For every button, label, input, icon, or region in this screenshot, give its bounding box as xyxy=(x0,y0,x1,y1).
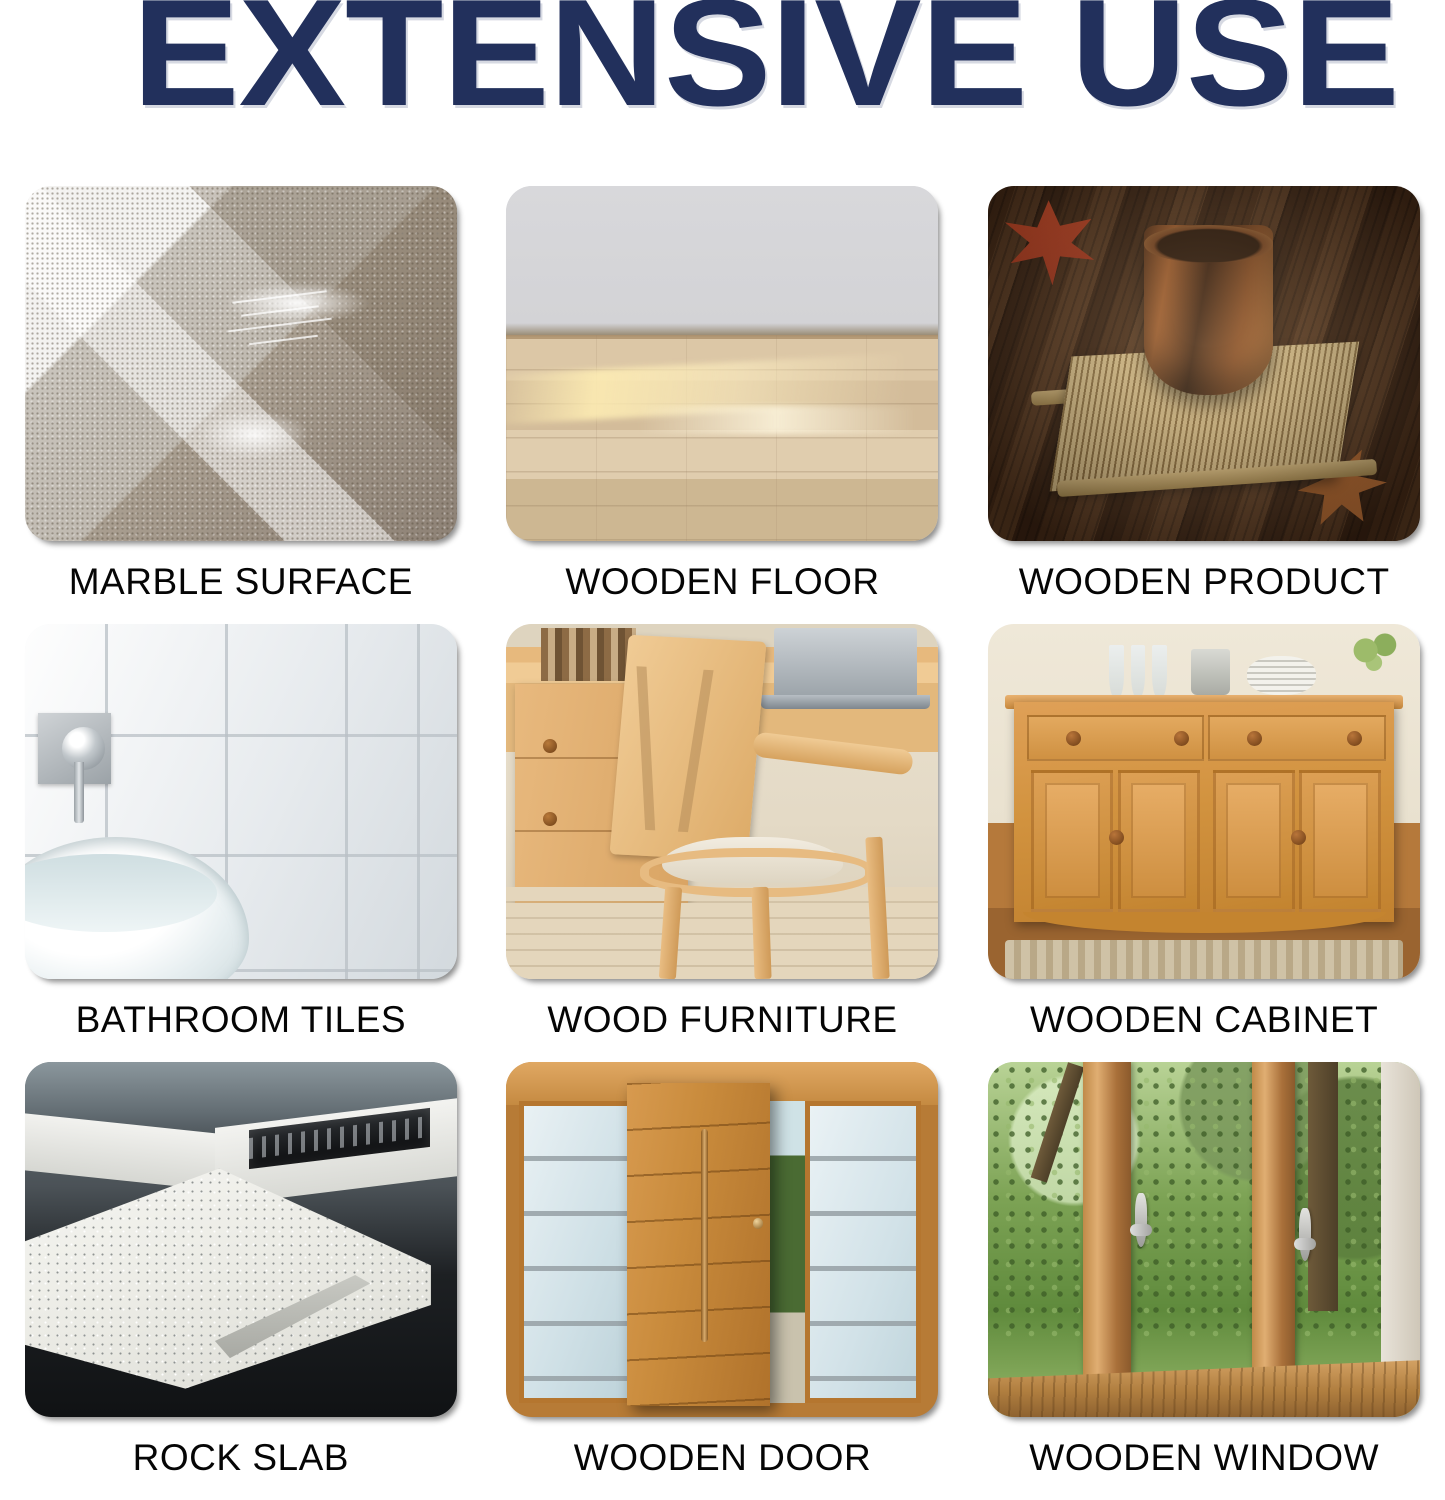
wooden-floor-image xyxy=(506,186,938,541)
use-case-wooden-door: WOODEN DOOR xyxy=(482,1062,964,1500)
floor-light-reflection-secondary xyxy=(636,406,917,434)
laptop-base xyxy=(761,695,929,709)
use-case-label: WOODEN CABINET xyxy=(1030,999,1378,1041)
wine-glass xyxy=(1131,645,1146,698)
wooden-product-image xyxy=(988,186,1420,541)
cabinet-door xyxy=(1031,770,1113,912)
use-case-wooden-product: WOODEN PRODUCT xyxy=(963,186,1445,624)
rock-slab-image xyxy=(25,1062,457,1417)
laptop-screen xyxy=(774,628,917,699)
tree-trunk xyxy=(1308,1062,1338,1311)
use-case-bathroom-tiles: BATHROOM TILES xyxy=(0,624,482,1062)
wall-surface xyxy=(506,186,938,335)
cabinet-door xyxy=(1299,770,1381,912)
page-title: EXTENSIVE USE xyxy=(6,0,1445,128)
backrest-slot xyxy=(636,666,654,830)
ceramic-jug xyxy=(1191,649,1230,695)
use-case-wood-furniture: WOOD FURNITURE xyxy=(482,624,964,1062)
wooden-window-image xyxy=(988,1062,1420,1417)
use-case-label: MARBLE SURFACE xyxy=(69,561,413,603)
books-stack xyxy=(541,628,636,681)
glass-panel-bars xyxy=(524,1106,626,1398)
use-case-label: WOODEN PRODUCT xyxy=(1019,561,1390,603)
use-case-wooden-window: WOODEN WINDOW xyxy=(963,1062,1445,1500)
frosted-glass-panel-left xyxy=(519,1101,631,1403)
marble-surface-image xyxy=(25,186,457,541)
use-case-marble-surface: MARBLE SURFACE xyxy=(0,186,482,624)
stacked-plates xyxy=(1247,656,1316,695)
wooden-cabinet-image xyxy=(988,624,1420,979)
door-lock-icon xyxy=(753,1218,763,1229)
vignette xyxy=(988,186,1420,541)
chair-leg xyxy=(751,886,771,979)
bathroom-tiles-image xyxy=(25,624,457,979)
marble-highlight-upper xyxy=(224,282,371,325)
chair-backrest xyxy=(609,635,766,862)
glass-panel-bars xyxy=(810,1106,917,1398)
plant-sprig xyxy=(1338,628,1407,685)
door-handle xyxy=(701,1129,708,1342)
door-knob xyxy=(1109,830,1124,845)
drawer-knob xyxy=(543,812,557,826)
drawer-knob xyxy=(543,739,557,753)
wine-glass xyxy=(1109,645,1124,698)
faucet-spout xyxy=(74,762,84,822)
use-case-wooden-cabinet: WOODEN CABINET xyxy=(963,624,1445,1062)
backrest-slot xyxy=(678,670,713,832)
drawer-knob xyxy=(1174,731,1189,746)
frosted-glass-panel-right xyxy=(805,1101,922,1403)
use-case-label: WOOD FURNITURE xyxy=(547,999,897,1041)
drawer-knob xyxy=(1347,731,1362,746)
cabinet-door xyxy=(1213,770,1295,912)
use-case-label: BATHROOM TILES xyxy=(76,999,406,1041)
wine-glass xyxy=(1152,645,1167,698)
drawer-knob xyxy=(1066,731,1081,746)
door-plank-grooves xyxy=(627,1083,770,1406)
cabinet-door xyxy=(1118,770,1200,912)
window-handle xyxy=(1135,1193,1147,1246)
wood-furniture-image xyxy=(506,624,938,979)
use-case-label: WOODEN FLOOR xyxy=(565,561,879,603)
floor-rug xyxy=(1005,940,1402,979)
window-mullion-right xyxy=(1252,1062,1295,1403)
use-case-wooden-floor: WOODEN FLOOR xyxy=(482,186,964,624)
extensive-use-grid: MARBLE SURFACE WOODEN FLOOR WOODEN PRODU… xyxy=(0,186,1445,1500)
window-mullion-left xyxy=(1083,1062,1131,1403)
tree-foliage xyxy=(988,1062,1420,1339)
cabinet-apron xyxy=(1023,912,1386,933)
drawer-knob xyxy=(1247,731,1262,746)
basin-bowl xyxy=(25,854,217,932)
door-knob xyxy=(1291,830,1306,845)
door-leaf xyxy=(627,1083,770,1406)
use-case-rock-slab: ROCK SLAB xyxy=(0,1062,482,1500)
wooden-door-image xyxy=(506,1062,938,1417)
marble-grain-texture xyxy=(25,186,457,541)
marble-highlight-lower xyxy=(198,410,310,460)
